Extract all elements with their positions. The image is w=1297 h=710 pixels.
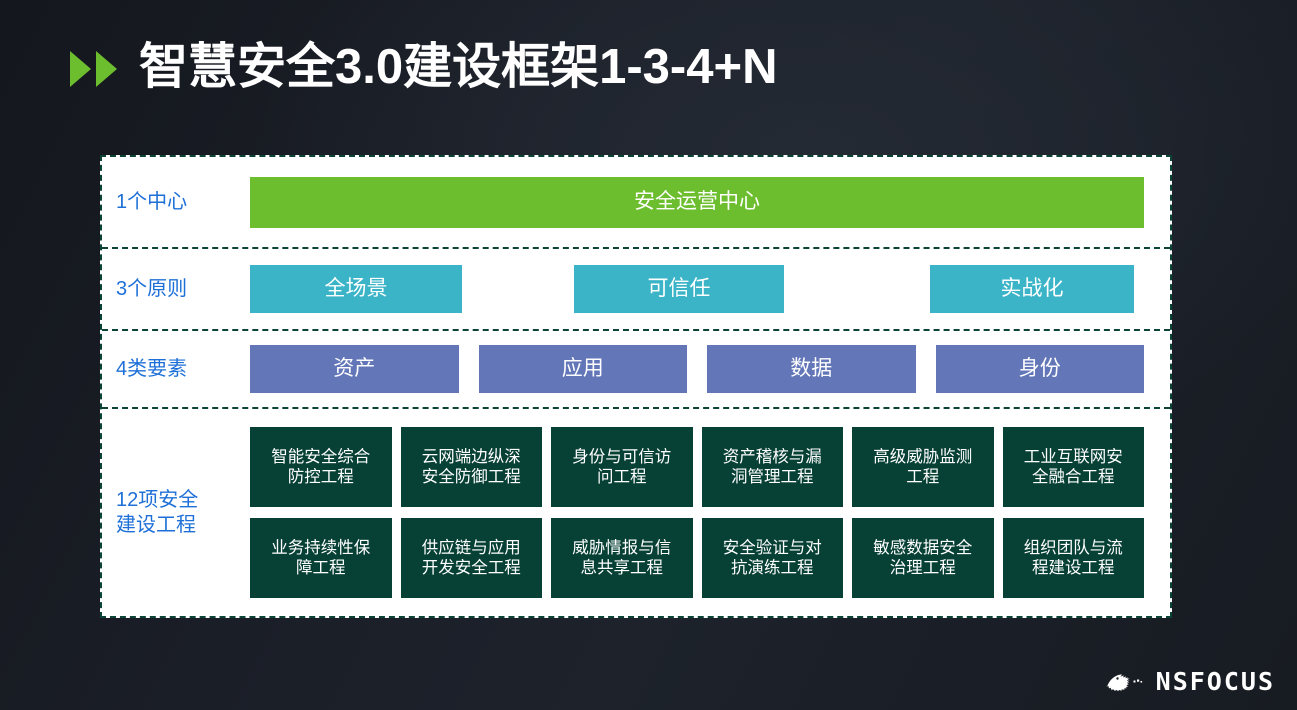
nsfocus-leopard-icon <box>1105 668 1149 696</box>
project-item-6[interactable]: 业务持续性保 障工程 <box>250 518 392 598</box>
principle-item-1[interactable]: 可信任 <box>574 265 784 313</box>
element-item-1[interactable]: 应用 <box>479 345 688 393</box>
row-content-projects: 智能安全综合 防控工程 云网端边纵深 安全防御工程 身份与可信访 问工程 资产稽… <box>250 409 1170 616</box>
project-item-9[interactable]: 安全验证与对 抗演练工程 <box>702 518 844 598</box>
framework-row-center: 1个中心 安全运营中心 <box>102 157 1170 249</box>
slide-header: 智慧安全3.0建设框架1-3-4+N <box>70 34 778 100</box>
element-item-0[interactable]: 资产 <box>250 345 459 393</box>
framework-panel: 1个中心 安全运营中心 3个原则 全场景 可信任 实战化 4类要素 资产 应用 … <box>100 155 1172 618</box>
project-grid-top: 智能安全综合 防控工程 云网端边纵深 安全防御工程 身份与可信访 问工程 资产稽… <box>250 427 1144 507</box>
element-item-3[interactable]: 身份 <box>936 345 1145 393</box>
project-item-3[interactable]: 资产稽核与漏 洞管理工程 <box>702 427 844 507</box>
principle-item-0[interactable]: 全场景 <box>250 265 462 313</box>
project-item-10[interactable]: 敏感数据安全 治理工程 <box>852 518 994 598</box>
row-label-elements: 4类要素 <box>102 357 250 382</box>
double-right-arrow-icon <box>70 51 117 87</box>
framework-row-projects: 12项安全 建设工程 智能安全综合 防控工程 云网端边纵深 安全防御工程 身份与… <box>102 409 1170 616</box>
row-label-projects: 12项安全 建设工程 <box>102 488 250 538</box>
center-item-security-operations[interactable]: 安全运营中心 <box>250 177 1144 228</box>
project-item-11[interactable]: 组织团队与流 程建设工程 <box>1003 518 1145 598</box>
arrow-triangle-2 <box>96 51 117 87</box>
project-item-2[interactable]: 身份与可信访 问工程 <box>551 427 693 507</box>
row-label-center: 1个中心 <box>102 190 250 215</box>
project-item-8[interactable]: 威胁情报与信 息共享工程 <box>551 518 693 598</box>
framework-row-principles: 3个原则 全场景 可信任 实战化 <box>102 249 1170 331</box>
row-content-center: 安全运营中心 <box>250 157 1170 247</box>
arrow-triangle-1 <box>70 51 91 87</box>
project-item-4[interactable]: 高级威胁监测 工程 <box>852 427 994 507</box>
project-item-5[interactable]: 工业互联网安 全融合工程 <box>1003 427 1145 507</box>
project-item-1[interactable]: 云网端边纵深 安全防御工程 <box>401 427 543 507</box>
element-item-2[interactable]: 数据 <box>707 345 916 393</box>
nsfocus-logo-text: NSFOCUS <box>1156 667 1275 696</box>
nsfocus-logo: NSFOCUS <box>1105 667 1275 696</box>
row-content-principles: 全场景 可信任 实战化 <box>250 249 1170 329</box>
row-label-principles: 3个原则 <box>102 277 250 302</box>
slide-canvas: 智慧安全3.0建设框架1-3-4+N 1个中心 安全运营中心 3个原则 全场景 … <box>0 0 1297 710</box>
principle-item-2[interactable]: 实战化 <box>930 265 1134 313</box>
row-content-elements: 资产 应用 数据 身份 <box>250 331 1170 407</box>
framework-row-elements: 4类要素 资产 应用 数据 身份 <box>102 331 1170 409</box>
project-item-7[interactable]: 供应链与应用 开发安全工程 <box>401 518 543 598</box>
project-item-0[interactable]: 智能安全综合 防控工程 <box>250 427 392 507</box>
project-grid-bottom: 业务持续性保 障工程 供应链与应用 开发安全工程 威胁情报与信 息共享工程 安全… <box>250 518 1144 598</box>
page-title: 智慧安全3.0建设框架1-3-4+N <box>139 43 778 92</box>
